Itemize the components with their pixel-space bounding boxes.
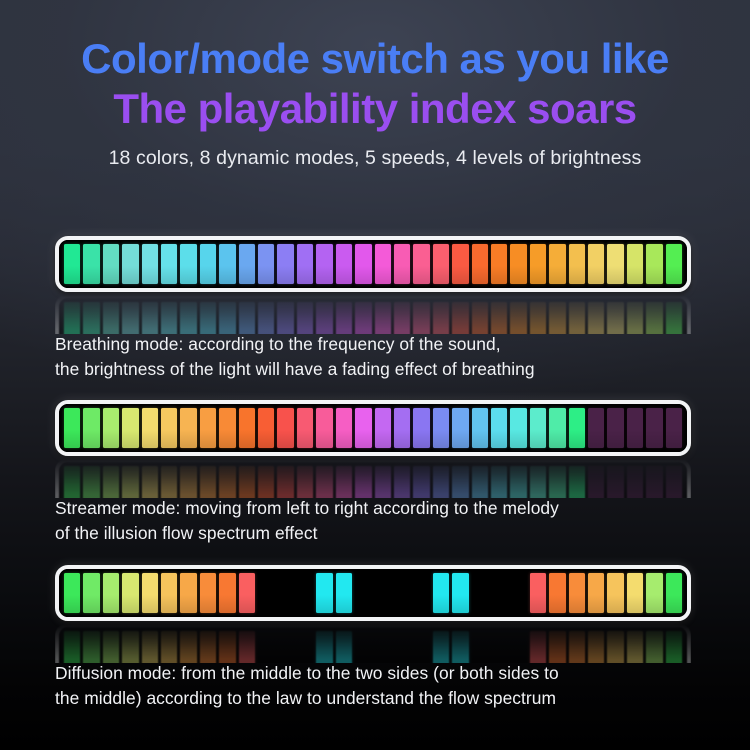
product-page: Color/mode switch as you like The playab…	[0, 0, 750, 750]
led-segment	[355, 466, 371, 498]
led-segment	[607, 302, 623, 334]
led-segment	[530, 631, 546, 663]
led-segment	[103, 573, 119, 613]
led-segment	[375, 466, 391, 498]
led-segment	[122, 244, 138, 284]
led-segment	[239, 244, 255, 284]
led-segment	[607, 408, 623, 448]
led-segment	[452, 466, 468, 498]
led-segments-reflection	[59, 627, 687, 663]
led-segment	[180, 408, 196, 448]
led-segment	[530, 573, 546, 613]
led-segment	[472, 302, 488, 334]
led-segment	[355, 302, 371, 334]
led-segment	[64, 408, 80, 448]
led-segment	[64, 244, 80, 284]
led-segment	[452, 631, 468, 663]
led-bar-diffusion[interactable]	[55, 565, 691, 621]
led-segment	[530, 302, 546, 334]
led-segment	[530, 244, 546, 284]
led-segment	[646, 302, 662, 334]
led-segment	[588, 408, 604, 448]
led-segment	[161, 408, 177, 448]
led-segment	[375, 408, 391, 448]
caption-line-1: Breathing mode: according to the frequen…	[55, 332, 705, 357]
led-segment	[607, 573, 623, 613]
led-segment	[316, 408, 332, 448]
led-segment	[355, 573, 371, 613]
led-segment	[142, 573, 158, 613]
led-segment	[161, 244, 177, 284]
led-segment	[122, 408, 138, 448]
led-bar-breathing[interactable]	[55, 236, 691, 292]
led-segment	[413, 573, 429, 613]
page-title-line-1: Color/mode switch as you like	[0, 34, 750, 84]
page-title-line-2: The playability index soars	[0, 84, 750, 134]
led-segment	[510, 244, 526, 284]
led-segment	[83, 302, 99, 334]
led-segment	[180, 573, 196, 613]
led-segment	[122, 573, 138, 613]
led-bar-stage	[0, 392, 750, 494]
led-segment	[510, 631, 526, 663]
led-segment	[569, 573, 585, 613]
led-segment	[413, 631, 429, 663]
led-segment	[510, 573, 526, 613]
led-segment	[355, 408, 371, 448]
led-segment	[258, 302, 274, 334]
led-segment	[200, 631, 216, 663]
led-segment	[297, 302, 313, 334]
led-segment	[297, 466, 313, 498]
led-segment	[161, 573, 177, 613]
led-segments-reflection	[59, 298, 687, 334]
led-segment	[646, 466, 662, 498]
led-segment	[200, 466, 216, 498]
led-segment	[239, 408, 255, 448]
led-segment	[161, 302, 177, 334]
led-segment	[375, 631, 391, 663]
led-segment	[336, 302, 352, 334]
led-segment	[472, 244, 488, 284]
led-segment	[142, 466, 158, 498]
led-segment	[316, 244, 332, 284]
led-segment	[646, 408, 662, 448]
led-segment	[180, 631, 196, 663]
led-segment	[239, 573, 255, 613]
led-segment	[394, 302, 410, 334]
led-segment	[375, 244, 391, 284]
led-segment	[510, 466, 526, 498]
led-segment	[83, 573, 99, 613]
led-segment	[83, 408, 99, 448]
led-segment	[64, 573, 80, 613]
led-segment	[433, 408, 449, 448]
led-segment	[103, 466, 119, 498]
led-segment	[277, 408, 293, 448]
led-segment	[297, 573, 313, 613]
led-segment	[355, 244, 371, 284]
led-segment	[530, 408, 546, 448]
led-segment	[122, 631, 138, 663]
led-segment	[491, 466, 507, 498]
led-segment	[180, 302, 196, 334]
led-segment	[666, 302, 682, 334]
led-segment	[200, 573, 216, 613]
caption-line-2: the brightness of the light will have a …	[55, 357, 705, 382]
led-segment	[472, 466, 488, 498]
led-segment	[83, 244, 99, 284]
led-segment	[569, 302, 585, 334]
led-segment	[103, 244, 119, 284]
led-segment	[258, 244, 274, 284]
led-segment	[258, 631, 274, 663]
led-segment	[549, 408, 565, 448]
led-bar-stage	[0, 557, 750, 659]
led-segment	[549, 466, 565, 498]
header: Color/mode switch as you like The playab…	[0, 0, 750, 170]
led-segment	[200, 244, 216, 284]
led-segment	[607, 466, 623, 498]
led-segment	[219, 408, 235, 448]
led-segment	[588, 244, 604, 284]
caption-line-1: Streamer mode: moving from left to right…	[55, 496, 705, 521]
led-segment	[258, 466, 274, 498]
led-segment	[394, 408, 410, 448]
led-segment	[433, 573, 449, 613]
led-segment	[433, 466, 449, 498]
led-segment	[336, 408, 352, 448]
led-segment	[549, 631, 565, 663]
caption-line-2: the middle) according to the law to unde…	[55, 686, 705, 711]
led-segment	[627, 408, 643, 448]
led-segment	[646, 244, 662, 284]
mode-block-breathing: Breathing mode: according to the frequen…	[0, 228, 750, 330]
led-segment	[569, 466, 585, 498]
led-segment	[433, 244, 449, 284]
led-segment	[413, 244, 429, 284]
led-segment	[588, 466, 604, 498]
led-segment	[646, 573, 662, 613]
led-segment	[394, 573, 410, 613]
led-segment	[627, 631, 643, 663]
led-segment	[452, 573, 468, 613]
led-segment	[219, 631, 235, 663]
led-segment	[472, 408, 488, 448]
led-segment	[219, 302, 235, 334]
caption-breathing: Breathing mode: according to the frequen…	[55, 332, 705, 382]
led-segment	[180, 244, 196, 284]
led-segment	[103, 302, 119, 334]
led-segment	[491, 408, 507, 448]
led-segment	[316, 631, 332, 663]
led-segment	[413, 466, 429, 498]
led-segment	[122, 466, 138, 498]
led-segment	[588, 631, 604, 663]
led-segment	[180, 466, 196, 498]
led-bar-streamer[interactable]	[55, 400, 691, 456]
led-segment	[627, 573, 643, 613]
led-segment	[239, 302, 255, 334]
led-segment	[394, 466, 410, 498]
led-segment	[142, 302, 158, 334]
led-segment	[569, 244, 585, 284]
led-segment	[627, 244, 643, 284]
led-bar-reflection	[55, 294, 691, 334]
led-segment	[336, 631, 352, 663]
led-segment	[64, 302, 80, 334]
led-segment	[277, 573, 293, 613]
led-segment	[161, 466, 177, 498]
led-segment	[219, 466, 235, 498]
led-segment	[627, 466, 643, 498]
led-segment	[666, 408, 682, 448]
led-segment	[472, 573, 488, 613]
led-segment	[433, 302, 449, 334]
led-segment	[297, 408, 313, 448]
led-segment	[277, 244, 293, 284]
led-segment	[219, 573, 235, 613]
led-segment	[375, 573, 391, 613]
led-segment	[510, 408, 526, 448]
led-bar-stage	[0, 228, 750, 330]
led-segment	[64, 466, 80, 498]
led-segment	[394, 244, 410, 284]
led-segment	[607, 244, 623, 284]
caption-line-2: of the illusion flow spectrum effect	[55, 521, 705, 546]
led-segment	[530, 466, 546, 498]
led-segment	[103, 408, 119, 448]
led-segment	[316, 466, 332, 498]
led-segments	[59, 240, 687, 288]
led-segment	[122, 302, 138, 334]
led-segment	[297, 631, 313, 663]
led-segment	[472, 631, 488, 663]
led-segment	[277, 302, 293, 334]
led-segment	[239, 466, 255, 498]
mode-block-streamer: Streamer mode: moving from left to right…	[0, 392, 750, 494]
led-segment	[239, 631, 255, 663]
led-segment	[336, 573, 352, 613]
led-segment	[258, 573, 274, 613]
led-segment	[588, 302, 604, 334]
led-segment	[588, 573, 604, 613]
led-segment	[161, 631, 177, 663]
page-subtitle: 18 colors, 8 dynamic modes, 5 speeds, 4 …	[0, 147, 750, 170]
led-segments	[59, 569, 687, 617]
led-bar-reflection	[55, 623, 691, 663]
led-segment	[433, 631, 449, 663]
led-segment	[277, 466, 293, 498]
caption-streamer: Streamer mode: moving from left to right…	[55, 496, 705, 546]
led-segment	[297, 244, 313, 284]
led-segment	[200, 408, 216, 448]
led-segment	[316, 573, 332, 613]
led-segment	[666, 631, 682, 663]
led-segment	[316, 302, 332, 334]
led-segment	[83, 466, 99, 498]
led-segment	[666, 573, 682, 613]
led-segment	[452, 244, 468, 284]
led-segment	[142, 244, 158, 284]
led-segment	[336, 466, 352, 498]
led-segment	[491, 631, 507, 663]
led-segment	[607, 631, 623, 663]
led-segment	[452, 408, 468, 448]
led-segment	[413, 408, 429, 448]
led-segment	[549, 302, 565, 334]
led-segment	[336, 244, 352, 284]
caption-line-1: Diffusion mode: from the middle to the t…	[55, 661, 705, 686]
led-segment	[569, 631, 585, 663]
led-segment	[666, 244, 682, 284]
led-segment	[491, 244, 507, 284]
led-segments-reflection	[59, 462, 687, 498]
led-segment	[569, 408, 585, 448]
mode-block-diffusion: Diffusion mode: from the middle to the t…	[0, 557, 750, 659]
caption-diffusion: Diffusion mode: from the middle to the t…	[55, 661, 705, 711]
led-segment	[142, 408, 158, 448]
led-segment	[510, 302, 526, 334]
led-segment	[452, 302, 468, 334]
led-segment	[103, 631, 119, 663]
led-segment	[394, 631, 410, 663]
led-segment	[627, 302, 643, 334]
led-segment	[142, 631, 158, 663]
led-segment	[549, 244, 565, 284]
led-bar-reflection	[55, 458, 691, 498]
led-segment	[491, 302, 507, 334]
led-segment	[491, 573, 507, 613]
led-segments	[59, 404, 687, 452]
led-segment	[277, 631, 293, 663]
led-segment	[200, 302, 216, 334]
led-segment	[413, 302, 429, 334]
led-segment	[83, 631, 99, 663]
led-segment	[219, 244, 235, 284]
led-segment	[64, 631, 80, 663]
led-segment	[375, 302, 391, 334]
led-segment	[355, 631, 371, 663]
led-segment	[258, 408, 274, 448]
led-segment	[549, 573, 565, 613]
led-segment	[646, 631, 662, 663]
led-segment	[666, 466, 682, 498]
